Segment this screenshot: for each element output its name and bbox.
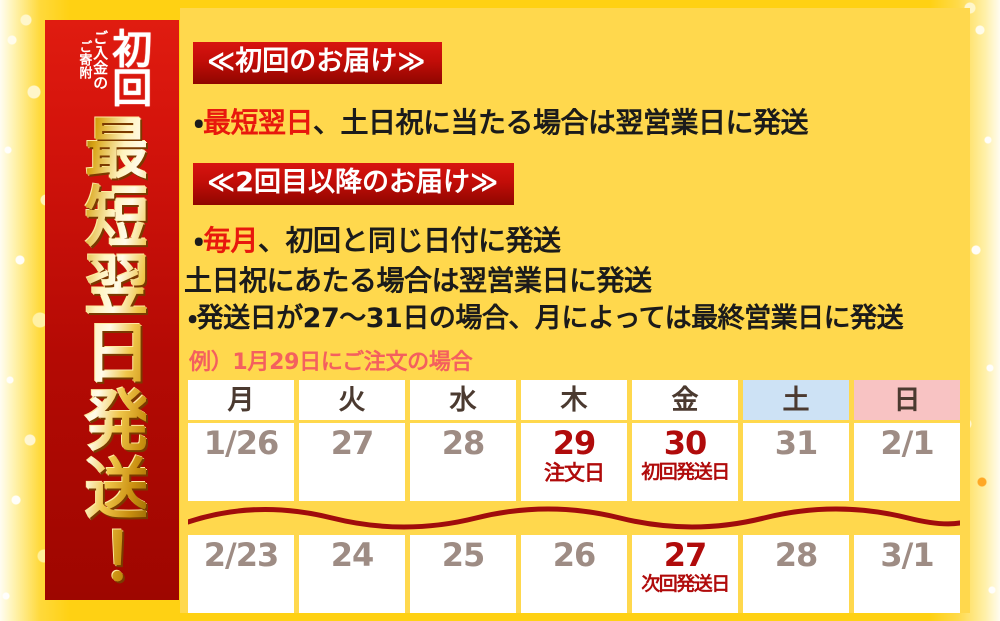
calendar-day-cell: 24 [299, 535, 405, 613]
calendar-day-cell: 26 [521, 535, 627, 613]
calendar-day-cell: 27 [299, 423, 405, 501]
weekday-label: 月 [228, 387, 255, 414]
example-label: 例）1月29日にご注文の場合 [189, 344, 472, 376]
calendar-header-cell-日: 日 [854, 380, 960, 420]
first-delivery-rest: 、土日祝に当たる場合は翌営業日に発送 [313, 106, 808, 139]
banner-canvas: 初回 ご入金の ご寄附 最短翌日発送！ ≪初回のお届け≫ ・最短翌日、土日祝に当… [0, 0, 1000, 621]
banner-donation-label: ご寄附 [77, 40, 91, 79]
calendar-day-number: 28 [442, 427, 485, 461]
calendar-day-number: 31 [775, 427, 818, 461]
calendar-day-cell: 28 [743, 535, 849, 613]
calendar-header-cell-金: 金 [632, 380, 738, 420]
banner-top-text-group: 初回 ご入金の ご寄附 [77, 28, 148, 112]
calendar-day-tag: 初回発送日 [641, 462, 729, 483]
bullet-mark-2: ・ [194, 224, 203, 257]
calendar-header-cell-土: 土 [743, 380, 849, 420]
calendar-day-cell: 1/26 [188, 423, 294, 501]
banner-first-time-label: 初回 [108, 28, 147, 106]
calendar-day-cell: 2/1 [854, 423, 960, 501]
calendar-day-number: 1/26 [204, 427, 278, 461]
calendar-day-number: 30 [664, 427, 707, 461]
calendar-day-cell: 30初回発送日 [632, 423, 738, 501]
first-delivery-line: ・最短翌日、土日祝に当たる場合は翌営業日に発送 [194, 108, 808, 139]
weekday-label: 金 [672, 387, 699, 414]
calendar-day-cell: 3/1 [854, 535, 960, 613]
calendar-day-number: 29 [553, 427, 596, 461]
calendar-day-number: 2/23 [204, 539, 278, 573]
calendar-day-cell: 2/23 [188, 535, 294, 613]
monthly-highlight: 毎月 [203, 224, 258, 257]
calendar-header-cell-火: 火 [299, 380, 405, 420]
section-heading-first-delivery: ≪初回のお届け≫ [193, 42, 442, 84]
wavy-divider [188, 504, 960, 532]
calendar-day-number: 25 [442, 539, 485, 573]
calendar-day-number: 24 [331, 539, 374, 573]
calendar-header-row: 月火水木金土日 [188, 380, 960, 420]
calendar-date-row: 2/2324252627次回発送日283/1 [188, 535, 960, 613]
calendar-day-number: 28 [775, 539, 818, 573]
left-red-banner: 初回 ご入金の ご寄附 最短翌日発送！ [45, 20, 179, 600]
subsequent-delivery-line-2: 土日祝にあたる場合は翌営業日に発送 [184, 266, 652, 297]
calendar-day-tag: 次回発送日 [641, 574, 729, 595]
calendar-day-tag: 注文日 [544, 462, 604, 485]
calendar-day-number: 27 [331, 427, 374, 461]
calendar-day-number: 3/1 [880, 539, 933, 573]
content-panel: ≪初回のお届け≫ ・最短翌日、土日祝に当たる場合は翌営業日に発送 ≪2回目以降の… [180, 8, 970, 613]
calendar-day-number: 2/1 [880, 427, 933, 461]
weekday-label: 木 [561, 387, 588, 414]
banner-headline: 最短翌日発送！ [78, 114, 145, 590]
weekday-label: 日 [894, 387, 921, 414]
weekday-label: 火 [339, 387, 366, 414]
calendar-day-cell: 28 [410, 423, 516, 501]
calendar-header-cell-木: 木 [521, 380, 627, 420]
calendar-day-cell: 27次回発送日 [632, 535, 738, 613]
monthly-rest: 、初回と同じ日付に発送 [258, 224, 561, 257]
bullet-mark: ・ [194, 106, 203, 139]
section-heading-subsequent-delivery: ≪2回目以降のお届け≫ [193, 163, 514, 205]
calendar-day-cell: 25 [410, 535, 516, 613]
subsequent-delivery-line-3: ・発送日が27〜31日の場合、月によっては最終営業日に発送 [188, 304, 903, 334]
calendar-header-cell-水: 水 [410, 380, 516, 420]
calendar-day-cell: 31 [743, 423, 849, 501]
subsequent-delivery-line-1: ・毎月、初回と同じ日付に発送 [194, 226, 561, 257]
calendar-day-cell: 29注文日 [521, 423, 627, 501]
weekday-label: 水 [450, 387, 477, 414]
calendar-day-number: 26 [553, 539, 596, 573]
calendar: 月火水木金土日 1/26272829注文日30初回発送日312/1 2/2324… [188, 380, 960, 613]
weekday-label: 土 [783, 387, 810, 414]
calendar-date-row: 1/26272829注文日30初回発送日312/1 [188, 423, 960, 501]
calendar-header-cell-月: 月 [188, 380, 294, 420]
first-delivery-highlight: 最短翌日 [203, 106, 313, 139]
calendar-day-number: 27 [664, 539, 707, 573]
